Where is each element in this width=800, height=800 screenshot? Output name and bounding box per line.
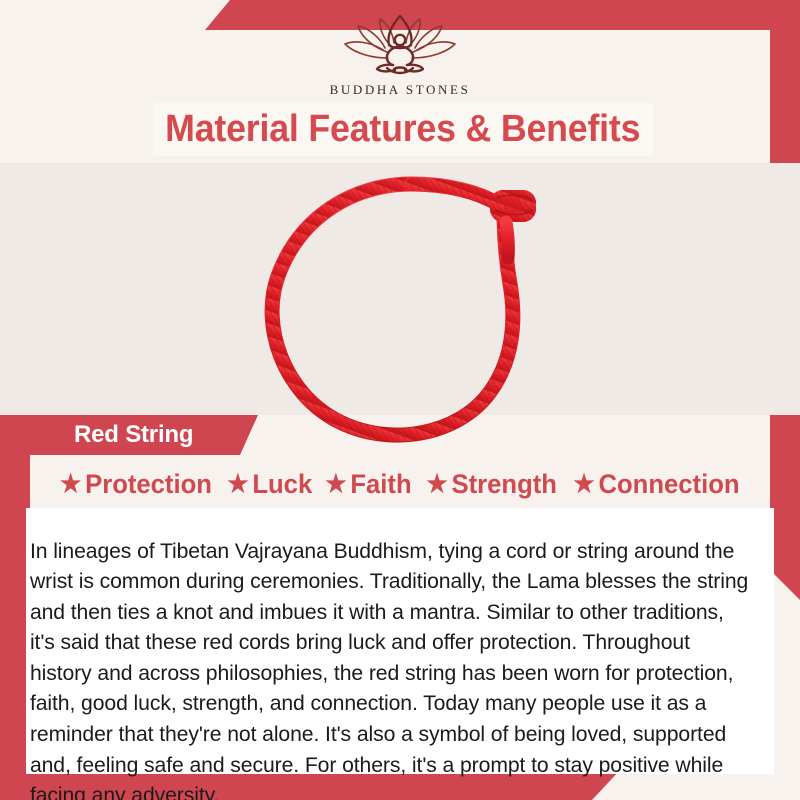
bracelet-knot-icon (490, 190, 536, 222)
star-icon: ★ (60, 472, 81, 497)
description-paragraph: In lineages of Tibetan Vajrayana Buddhis… (26, 530, 763, 800)
keyword-label: Luck (252, 469, 312, 500)
keyword-label: Faith (350, 469, 411, 500)
brand-logo: BUDDHA STONES (0, 14, 800, 98)
keyword-protection: ★ Protection (60, 469, 212, 500)
star-icon: ★ (574, 472, 595, 497)
lotus-meditation-icon (325, 14, 475, 80)
keyword-label: Protection (85, 469, 212, 500)
poster-canvas: BUDDHA STONES Material Features & Benefi… (0, 0, 800, 800)
brand-wordmark: BUDDHA STONES (0, 82, 800, 98)
keyword-strength: ★ Strength (426, 469, 557, 500)
section-label-text: Red String (18, 421, 193, 449)
description-panel: In lineages of Tibetan Vajrayana Buddhis… (26, 508, 774, 774)
page-title: Material Features & Benefits (165, 108, 640, 151)
keyword-label: Strength (452, 469, 557, 500)
benefits-keyword-row: ★ Protection ★ Luck ★ Faith ★ Strength ★… (30, 466, 770, 502)
star-icon: ★ (325, 472, 346, 497)
keyword-luck: ★ Luck (227, 469, 312, 500)
title-banner: Material Features & Benefits (153, 103, 653, 156)
red-string-bracelet-icon (262, 168, 562, 448)
keyword-label: Connection (599, 469, 740, 500)
star-icon: ★ (426, 472, 447, 497)
product-image-bracelet (262, 168, 562, 448)
star-icon: ★ (227, 472, 248, 497)
keyword-faith: ★ Faith (325, 469, 411, 500)
keyword-connection: ★ Connection (574, 469, 740, 500)
section-label-banner: Red String (18, 415, 258, 455)
